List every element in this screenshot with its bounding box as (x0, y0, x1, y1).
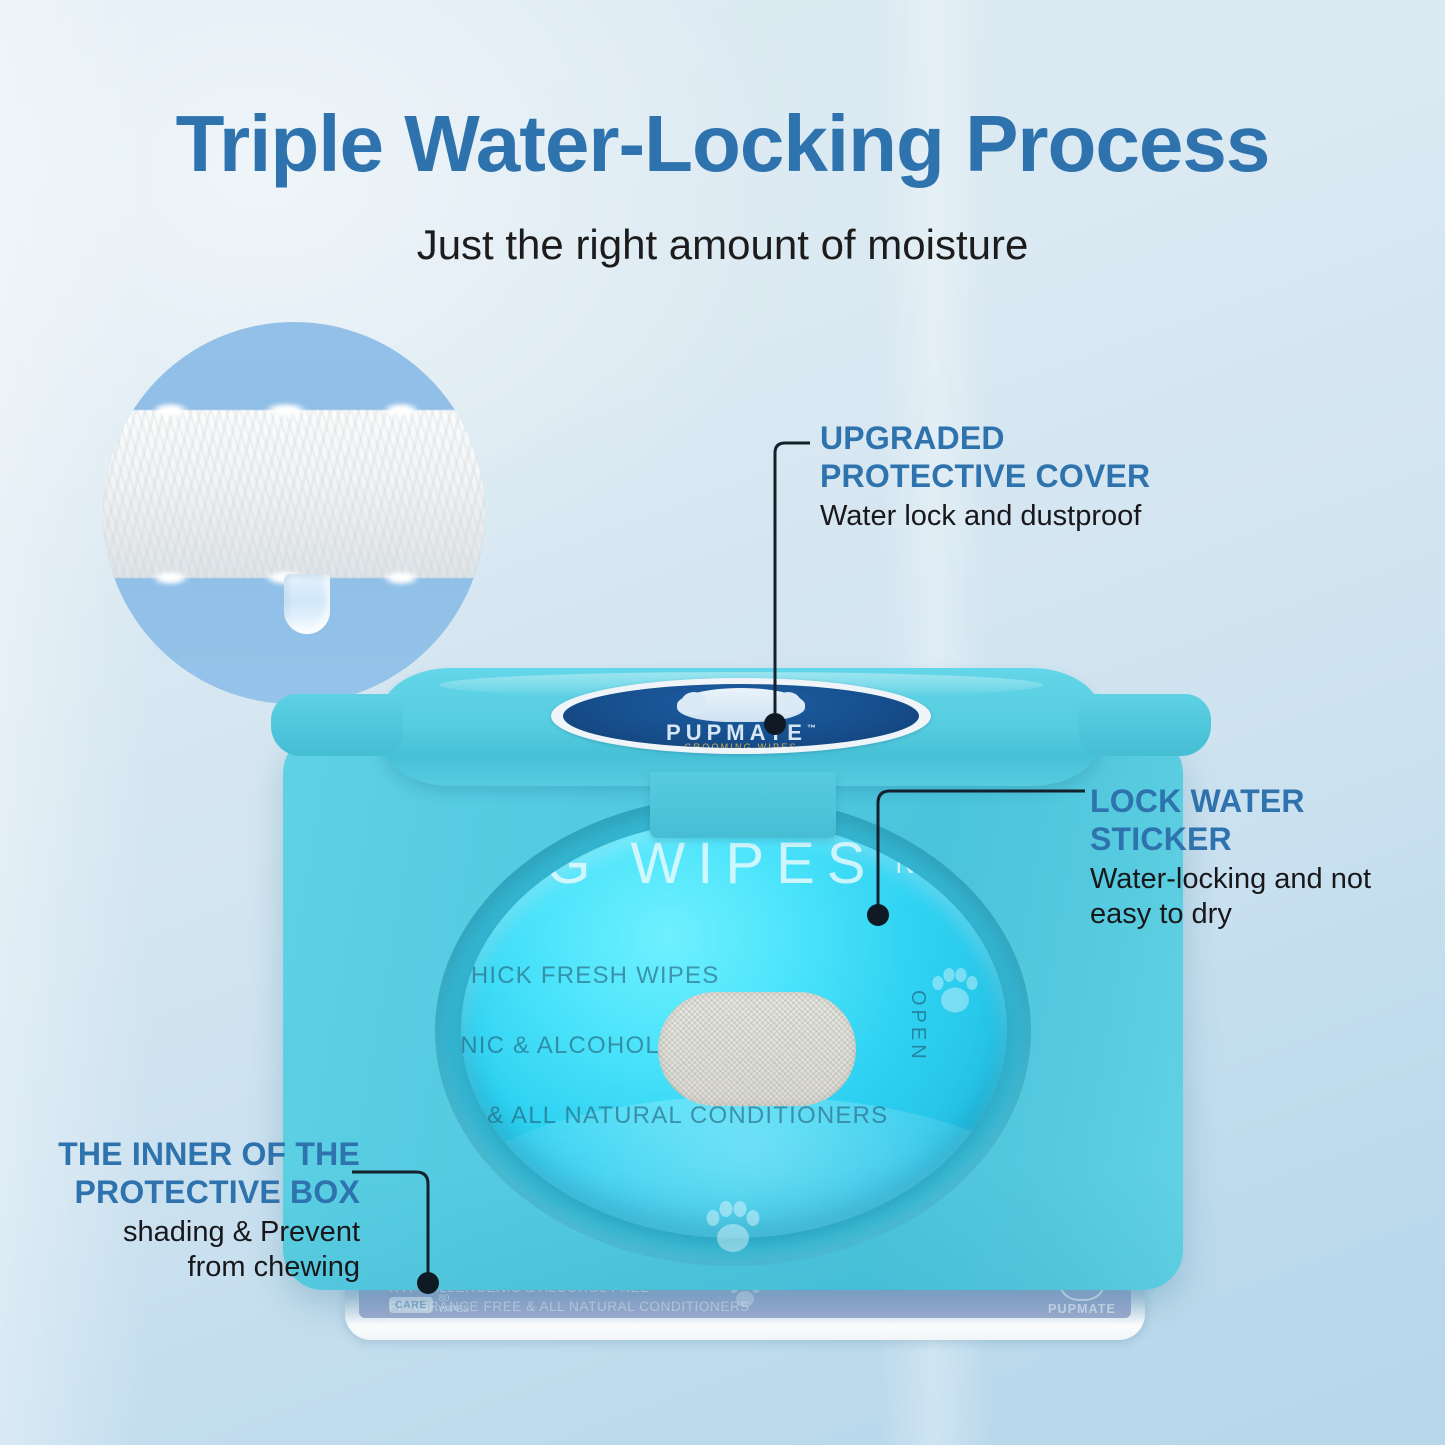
page-subtitle: Just the right amount of moisture (0, 222, 1445, 268)
lid-title: MING WIPESNA (461, 830, 941, 897)
flap-pull-tab[interactable] (650, 772, 836, 838)
callout-3-heading-line1: THE INNER OF THE (20, 1136, 360, 1174)
flap-wing-left (271, 694, 403, 756)
inner-lid-disc: MING WIPESNA THICK FRESH WIPES ENIC & AL… (461, 820, 1007, 1238)
lid-title-suffix: NA (895, 849, 941, 879)
protective-cover-flap[interactable]: PUPMATE™ GROOMING WIPES FOR DOGS & CATS (381, 668, 1101, 786)
lid-bullet-2: ENIC & ALCOHOL F (461, 1032, 683, 1060)
quantity-unit: WIPES (439, 1304, 470, 1315)
callout-1-heading: UPGRADED PROTECTIVE COVER (820, 420, 1150, 496)
paw-print-icon-lid (929, 966, 981, 1016)
callout-3-subtext: shading & Prevent from chewing (20, 1215, 360, 1286)
callout-3-subtext-line1: shading & Prevent (20, 1215, 360, 1250)
flap-wing-right (1079, 694, 1211, 756)
logo-tagline: GROOMING WIPES (563, 742, 919, 748)
callout-1-heading-line1: UPGRADED (820, 420, 1150, 458)
callout-lock-water-sticker: LOCK WATER STICKER Water-locking and not… (1090, 783, 1371, 932)
quantity-number: 80 (439, 1293, 450, 1304)
paw-print-icon-well (703, 1198, 763, 1256)
brand-tm: ™ (807, 723, 816, 733)
fabric-texture (103, 410, 485, 578)
lid-bullet-1: THICK FRESH WIPES (461, 962, 719, 990)
brand-logo-sticker: PUPMATE™ GROOMING WIPES FOR DOGS & CATS (551, 678, 931, 754)
product-wipes-container: GROOMING WIPESNATURE EXTRA MOIST & THICK… (283, 668, 1203, 1340)
base-brand-text: PUPMATE (1048, 1302, 1116, 1316)
callout-upgraded-protective-cover: UPGRADED PROTECTIVE COVER Water lock and… (820, 420, 1150, 534)
callout-3-heading: THE INNER OF THE PROTECTIVE BOX (20, 1136, 360, 1212)
lid-bullet-3: EE & ALL NATURAL CONDITIONERS (461, 1102, 888, 1130)
callout-1-subtext: Water lock and dustproof (820, 499, 1150, 534)
callout-1-heading-line2: PROTECTIVE COVER (820, 458, 1150, 496)
infographic-canvas: Triple Water-Locking Process Just the ri… (0, 0, 1445, 1445)
care-label: CARE (389, 1297, 433, 1313)
dog-silhouette-icon (677, 688, 805, 722)
recessed-oval-well: MING WIPESNA THICK FRESH WIPES ENIC & AL… (435, 796, 1031, 1266)
callout-2-subtext: Water-locking and not easy to dry (1090, 862, 1371, 933)
base-brand-name: PUPMATE (1045, 1302, 1119, 1316)
base-care-badge: CARE 80 WIPES (389, 1294, 469, 1316)
callout-3-subtext-line2: from chewing (20, 1250, 360, 1285)
callout-2-heading-line2: STICKER (1090, 821, 1371, 859)
logo-inner-oval: PUPMATE™ GROOMING WIPES FOR DOGS & CATS (563, 684, 919, 748)
callout-inner-protective-box: THE INNER OF THE PROTECTIVE BOX shading … (20, 1136, 360, 1285)
lid-title-main: MING WIPES (461, 831, 877, 896)
open-label: OPEN (906, 990, 929, 1063)
wipe-fabric-closeup-circle (103, 322, 485, 704)
water-droplet-icon (284, 574, 330, 634)
callout-2-subtext-line2: easy to dry (1090, 897, 1371, 932)
callout-2-heading: LOCK WATER STICKER (1090, 783, 1371, 859)
callout-3-heading-line2: PROTECTIVE BOX (20, 1174, 360, 1212)
page-title: Triple Water-Locking Process (0, 104, 1445, 184)
base-quantity: 80 WIPES (439, 1294, 470, 1316)
lock-water-sticker-patch[interactable] (658, 992, 856, 1106)
callout-2-subtext-line1: Water-locking and not (1090, 862, 1371, 897)
callout-2-heading-line1: LOCK WATER (1090, 783, 1371, 821)
